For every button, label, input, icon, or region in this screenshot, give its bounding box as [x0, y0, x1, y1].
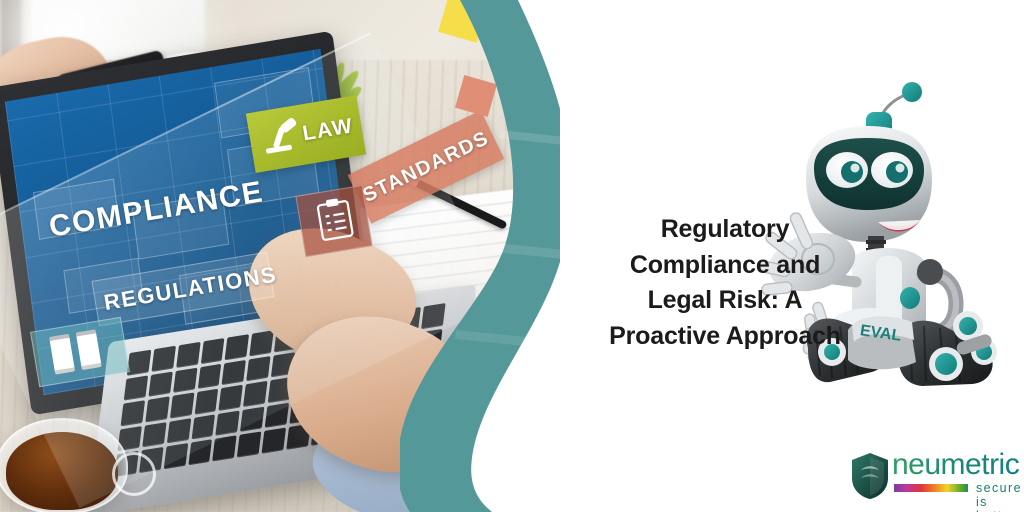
gavel-icon [259, 117, 304, 157]
right-panel: EVAL Regulatory Compliance and Legal Ris… [560, 0, 1024, 512]
tea-liquid [6, 432, 118, 510]
title-line-2: Compliance and [570, 248, 880, 284]
title-line-1: Regulatory [570, 212, 880, 248]
logo-gradient-bar [894, 484, 968, 492]
clipboard-checklist-icon [315, 195, 355, 242]
title-line-4: Proactive Approach [570, 319, 880, 355]
blog-banner: LAW COMPLIANCE REGULATIONS STANDARDS [0, 0, 1024, 512]
neumetric-logo[interactable]: neumetric secure is better [850, 448, 1022, 506]
law-label: LAW [301, 114, 355, 145]
logo-tagline: secure is better [976, 481, 1022, 512]
shield-icon [850, 452, 890, 500]
title-line-3: Legal Risk: A [570, 283, 880, 319]
logo-wordmark: neumetric [892, 450, 1019, 480]
glass-handle [112, 452, 156, 496]
page-title: Regulatory Compliance and Legal Risk: A … [570, 212, 880, 354]
